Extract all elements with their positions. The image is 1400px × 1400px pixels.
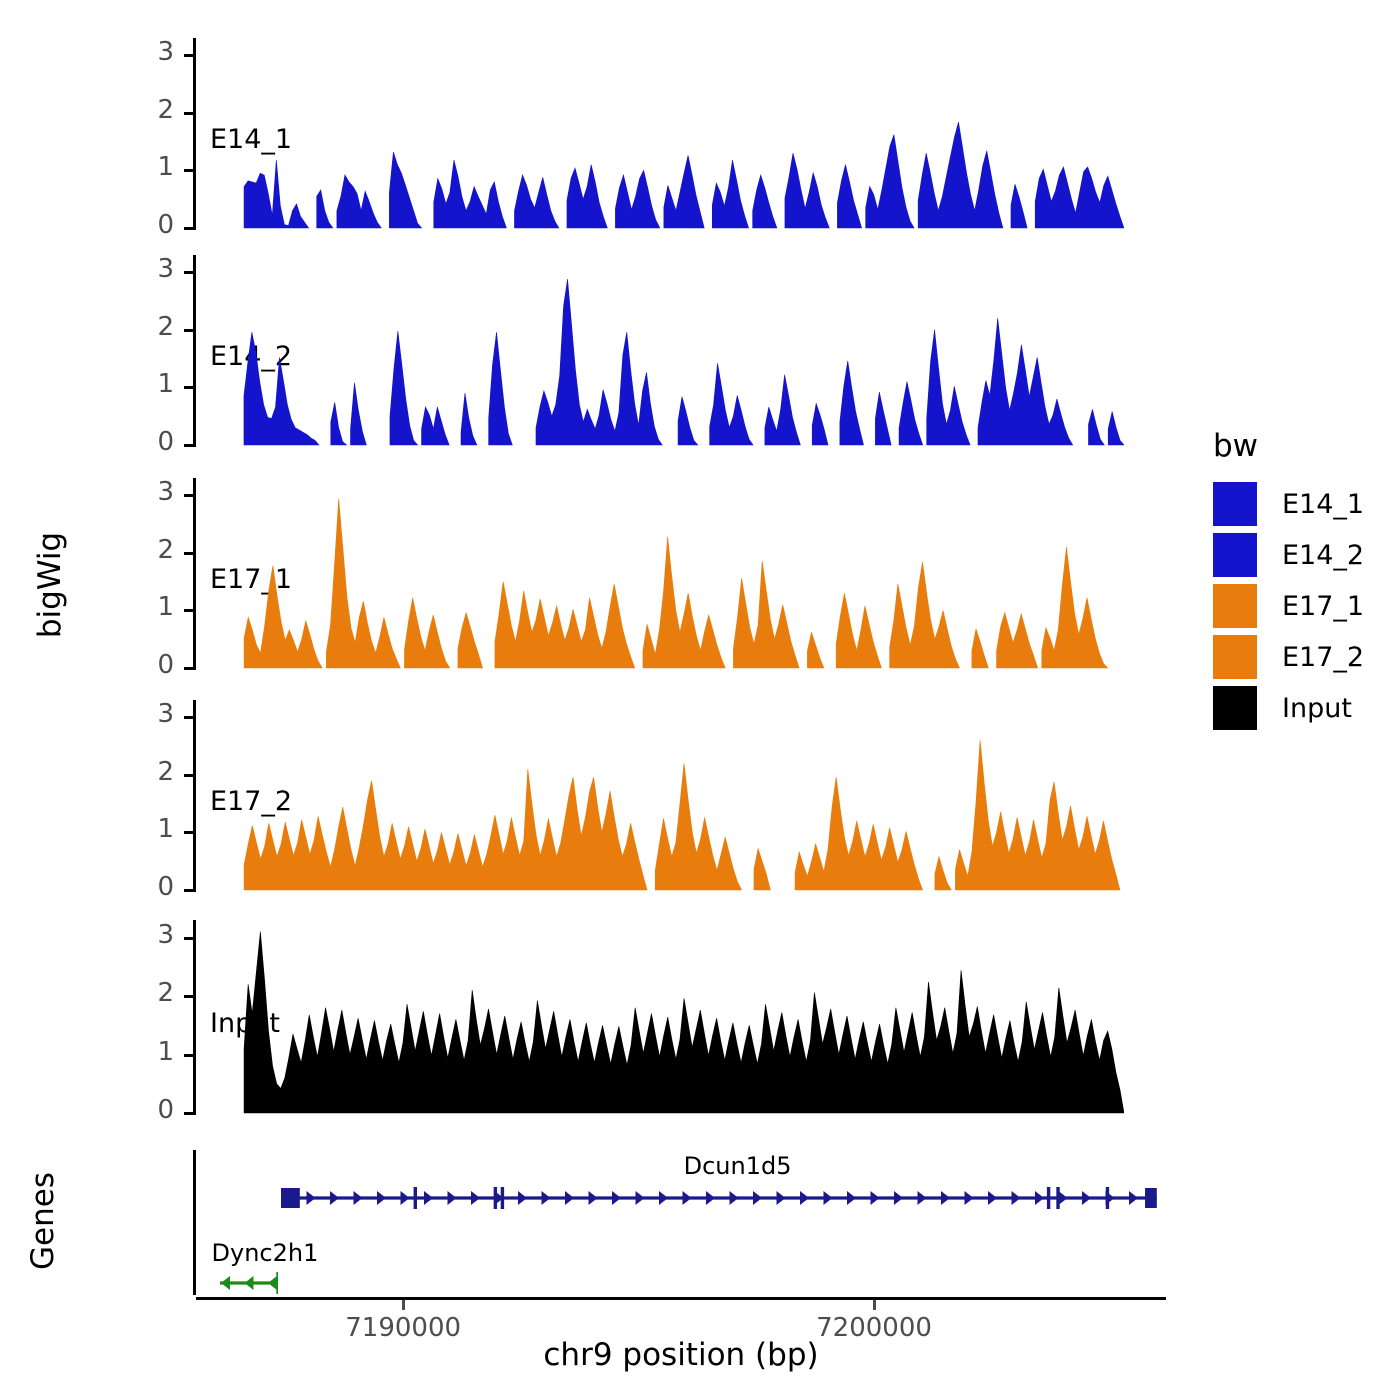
legend-item-e17_2[interactable]: E17_2 xyxy=(1213,633,1364,681)
legend-item-e14_1[interactable]: E14_1 xyxy=(1213,480,1364,528)
legend-swatch-e17_1 xyxy=(1213,584,1257,628)
track-signal-e14_2 xyxy=(240,255,1124,448)
y-axis-line-input xyxy=(193,920,196,1115)
x-axis-title: chr9 position (bp) xyxy=(396,1337,966,1373)
y-tick xyxy=(184,112,193,115)
legend-item-input[interactable]: Input xyxy=(1213,684,1364,732)
y-tick-label: 0 xyxy=(140,650,174,680)
y-tick xyxy=(184,937,193,940)
y-tick xyxy=(184,609,193,612)
y-tick xyxy=(184,995,193,998)
genes-axis-line xyxy=(193,1150,196,1295)
y-tick-label: 1 xyxy=(140,592,174,622)
y-tick-label: 2 xyxy=(140,978,174,1008)
y-tick-label: 1 xyxy=(140,1037,174,1067)
y-tick-label: 2 xyxy=(140,312,174,342)
y-tick xyxy=(184,271,193,274)
y-tick xyxy=(184,54,193,57)
legend-items: E14_1E14_2E17_1E17_2Input xyxy=(1213,480,1364,732)
y-tick-label: 2 xyxy=(140,535,174,565)
gene-label-dcun1d5: Dcun1d5 xyxy=(684,1152,792,1180)
y-tick-label: 3 xyxy=(140,920,174,950)
gene-model-dync2h1[interactable] xyxy=(220,1267,279,1299)
y-tick xyxy=(184,444,193,447)
y-tick-label: 3 xyxy=(140,699,174,729)
y-tick-label: 2 xyxy=(140,757,174,787)
y-tick-label: 1 xyxy=(140,369,174,399)
y-tick xyxy=(184,1054,193,1057)
track-signal-input xyxy=(240,920,1124,1116)
legend-swatch-e14_1 xyxy=(1213,482,1257,526)
y-tick xyxy=(184,227,193,230)
legend-swatch-e17_2 xyxy=(1213,635,1257,679)
y-tick-label: 3 xyxy=(140,254,174,284)
legend-title: bw xyxy=(1213,428,1364,464)
legend-label: E17_1 xyxy=(1282,591,1364,622)
y-tick-label: 1 xyxy=(140,814,174,844)
legend-label: Input xyxy=(1282,693,1352,724)
y-tick-label: 2 xyxy=(140,95,174,125)
y-tick-label: 0 xyxy=(140,427,174,457)
y-tick xyxy=(184,329,193,332)
y-tick-label: 3 xyxy=(140,37,174,67)
track-signal-e14_1 xyxy=(240,38,1124,231)
x-tick xyxy=(873,1300,876,1310)
y-tick xyxy=(184,552,193,555)
legend-label: E17_2 xyxy=(1282,642,1364,673)
y-tick-label: 3 xyxy=(140,477,174,507)
y-tick xyxy=(184,831,193,834)
y-tick-label: 1 xyxy=(140,152,174,182)
genes-axis-title: Genes xyxy=(25,1151,61,1291)
y-axis-line-e17_2 xyxy=(193,700,196,892)
y-tick xyxy=(184,889,193,892)
legend: bw E14_1E14_2E17_1E17_2Input xyxy=(1213,428,1364,735)
x-tick xyxy=(402,1300,405,1310)
legend-item-e17_1[interactable]: E17_1 xyxy=(1213,582,1364,630)
y-axis-line-e17_1 xyxy=(193,478,196,670)
y-tick-label: 0 xyxy=(140,210,174,240)
y-tick xyxy=(184,667,193,670)
gene-model-dcun1d5[interactable] xyxy=(281,1182,1157,1214)
track-signal-e17_1 xyxy=(240,478,1124,671)
y-tick xyxy=(184,716,193,719)
x-axis-line xyxy=(196,1297,1166,1300)
legend-item-e14_2[interactable]: E14_2 xyxy=(1213,531,1364,579)
y-tick xyxy=(184,774,193,777)
y-tick-label: 0 xyxy=(140,1095,174,1125)
y-axis-line-e14_1 xyxy=(193,38,196,230)
y-tick xyxy=(184,169,193,172)
y-axis-title: bigWig xyxy=(32,505,68,665)
y-axis-line-e14_2 xyxy=(193,255,196,447)
legend-label: E14_1 xyxy=(1282,489,1364,520)
legend-label: E14_2 xyxy=(1282,540,1364,571)
figure-root: bigWig Genes 0123E14_10123E14_20123E17_1… xyxy=(0,0,1400,1400)
legend-swatch-input xyxy=(1213,686,1257,730)
y-tick xyxy=(184,494,193,497)
gene-label-dync2h1: Dync2h1 xyxy=(212,1239,319,1267)
track-signal-e17_2 xyxy=(240,700,1124,893)
y-tick-label: 0 xyxy=(140,872,174,902)
legend-swatch-e14_2 xyxy=(1213,533,1257,577)
y-tick xyxy=(184,1112,193,1115)
y-tick xyxy=(184,386,193,389)
